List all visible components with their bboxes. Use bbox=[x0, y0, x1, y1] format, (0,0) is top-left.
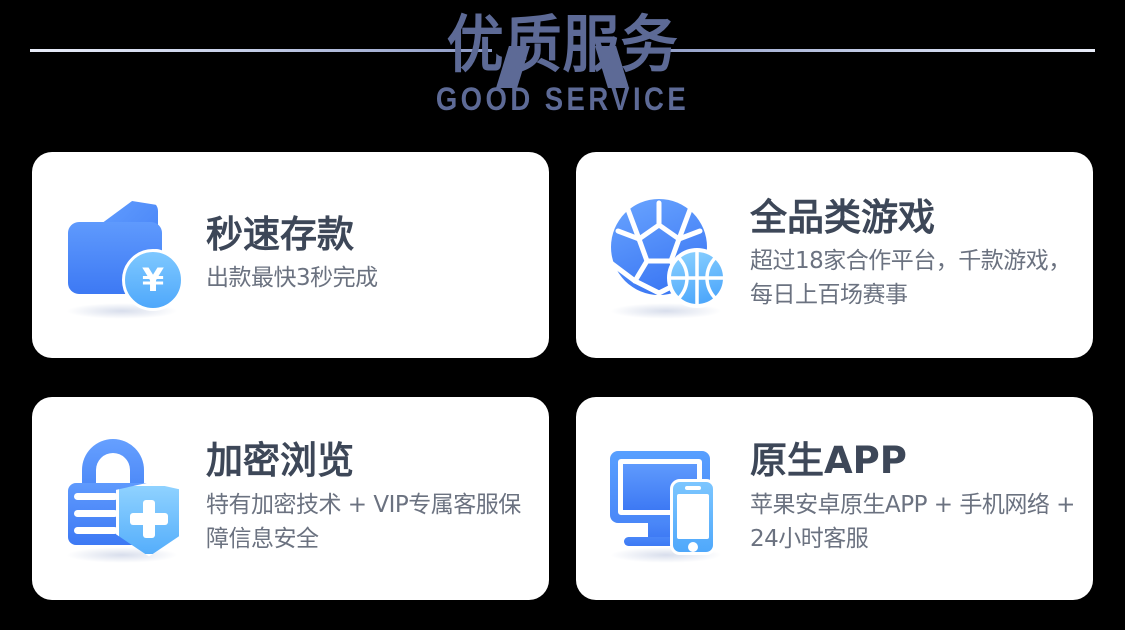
feature-card-title: 秒速存款 bbox=[206, 215, 539, 256]
monitor-and-smartphone-icon bbox=[604, 433, 736, 565]
feature-card-desc: 苹果安卓原生APP + 手机网络 + 24小时客服 bbox=[750, 488, 1083, 556]
soccer-ball-and-basketball-icon bbox=[604, 189, 736, 321]
feature-card-text: 原生APP 苹果安卓原生APP + 手机网络 + 24小时客服 bbox=[750, 441, 1083, 556]
feature-card-text: 加密浏览 特有加密技术 + VIP专属客服保障信息安全 bbox=[206, 441, 539, 556]
padlock-slot bbox=[74, 527, 118, 534]
padlock-shackle-hole bbox=[96, 453, 130, 487]
feature-card-grid: ¥ 秒速存款 出款最快3秒完成 bbox=[32, 152, 1093, 600]
padlock-with-shield-icon bbox=[60, 433, 192, 565]
wallet-with-yen-coin-icon: ¥ bbox=[60, 189, 192, 321]
feature-card-native-app[interactable]: 原生APP 苹果安卓原生APP + 手机网络 + 24小时客服 bbox=[576, 397, 1093, 600]
feature-card-desc: 超过18家合作平台，千款游戏，每日上百场赛事 bbox=[750, 244, 1083, 312]
feature-card-title: 全品类游戏 bbox=[750, 198, 1083, 239]
page-header: 优质服务 GOOD SERVICE bbox=[0, 0, 1125, 150]
page-title: 优质服务 bbox=[45, 0, 1080, 77]
padlock-slot bbox=[74, 510, 118, 517]
feature-card-text: 全品类游戏 超过18家合作平台，千款游戏，每日上百场赛事 bbox=[750, 198, 1083, 313]
feature-card-encryption[interactable]: 加密浏览 特有加密技术 + VIP专属客服保障信息安全 bbox=[32, 397, 549, 600]
feature-card-title: 原生APP bbox=[750, 441, 1083, 482]
feature-card-desc: 特有加密技术 + VIP专属客服保障信息安全 bbox=[206, 488, 539, 556]
feature-card-text: 秒速存款 出款最快3秒完成 bbox=[206, 215, 539, 296]
plus-icon bbox=[143, 500, 155, 538]
page-subtitle: GOOD SERVICE bbox=[79, 77, 1047, 118]
feature-card-title: 加密浏览 bbox=[206, 441, 539, 482]
icon-shadow bbox=[66, 547, 178, 563]
basketball-icon bbox=[666, 247, 728, 309]
smartphone-speaker bbox=[685, 486, 701, 490]
smartphone-home-button bbox=[688, 542, 698, 552]
padlock-slot bbox=[74, 493, 118, 500]
feature-card-games[interactable]: 全品类游戏 超过18家合作平台，千款游戏，每日上百场赛事 bbox=[576, 152, 1093, 358]
feature-card-desc: 出款最快3秒完成 bbox=[206, 261, 539, 295]
feature-card-deposit[interactable]: ¥ 秒速存款 出款最快3秒完成 bbox=[32, 152, 549, 358]
page-title-block: 优质服务 GOOD SERVICE bbox=[0, 0, 1125, 118]
smartphone-screen bbox=[677, 494, 709, 539]
yen-coin-icon: ¥ bbox=[122, 249, 184, 311]
